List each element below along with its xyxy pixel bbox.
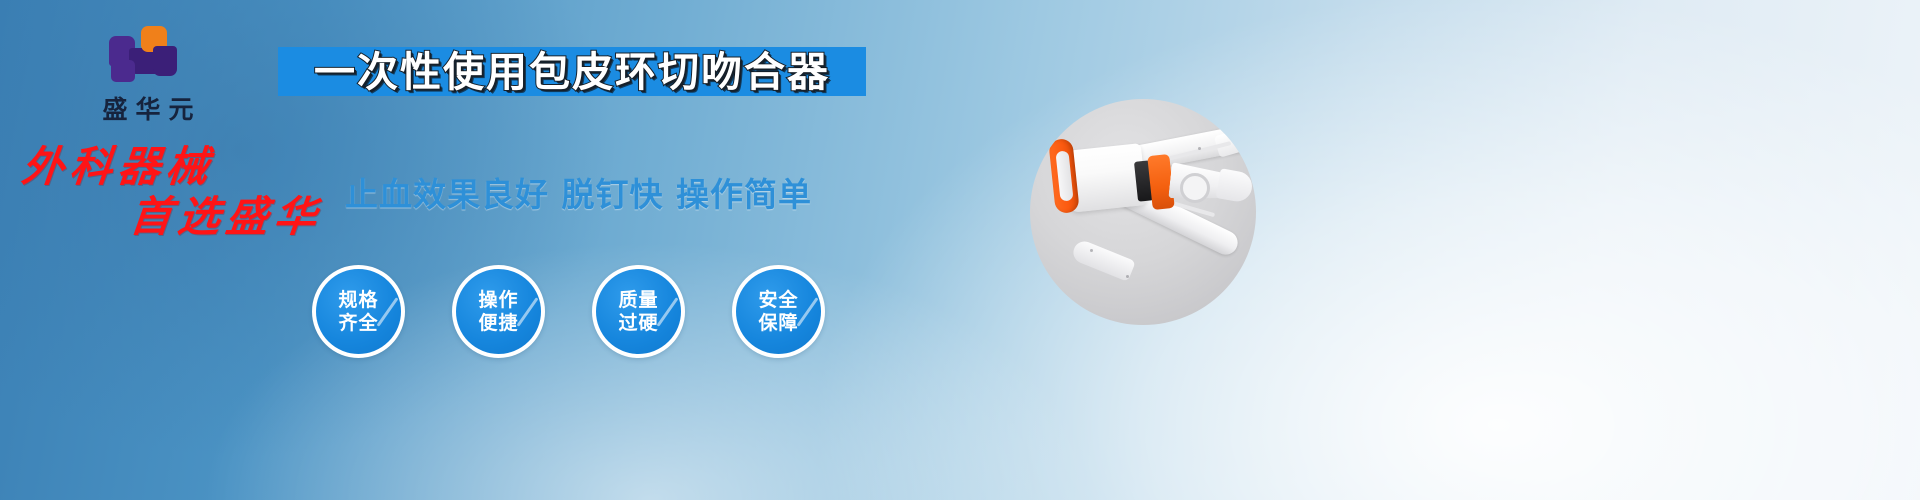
badge-line-2: 便捷 xyxy=(478,312,518,334)
disposable-circumcision-stapler-photo xyxy=(1030,99,1256,325)
badge-line-2: 过硬 xyxy=(618,312,658,334)
badge-line-1: 质量 xyxy=(618,289,658,311)
badge-line-2: 保障 xyxy=(758,312,798,334)
calligraphy-line-1: 外科器械 xyxy=(20,146,354,188)
page-title: 一次性使用包皮环切吻合器 xyxy=(314,52,830,93)
stapler-illustration xyxy=(1030,99,1256,325)
feature-badge[interactable]: 质量 过硬 xyxy=(592,265,685,358)
badge-line-2: 齐全 xyxy=(338,312,378,334)
calligraphy-line-2: 首选盛华 xyxy=(128,196,354,238)
badge-line-1: 操作 xyxy=(478,289,518,311)
feature-badge-list: 规格 齐全 操作 便捷 质量 过硬 安全 保障 xyxy=(312,265,825,358)
brand-block: 盛华元 xyxy=(58,26,238,126)
feature-badge[interactable]: 操作 便捷 xyxy=(452,265,545,358)
calligraphy-slogan: 外科器械 首选盛华 xyxy=(22,146,352,238)
feature-badge[interactable]: 规格 齐全 xyxy=(312,265,405,358)
shenghuayuan-logo-icon xyxy=(109,26,187,84)
company-name: 盛华元 xyxy=(58,90,238,126)
badge-line-1: 安全 xyxy=(758,289,798,311)
feature-badge[interactable]: 安全 保障 xyxy=(732,265,825,358)
promo-banner: 盛华元 外科器械 首选盛华 一次性使用包皮环切吻合器 止血效果良好 脱钉快 操作… xyxy=(0,0,1920,500)
title-band: 一次性使用包皮环切吻合器 xyxy=(278,47,866,96)
subtitle: 止血效果良好 脱钉快 操作简单 xyxy=(345,168,812,216)
badge-line-1: 规格 xyxy=(338,289,378,311)
